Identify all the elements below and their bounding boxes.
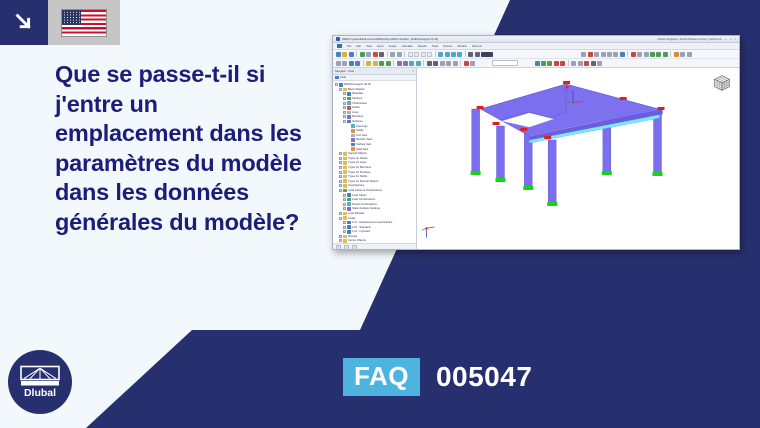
toolbar2-result-min[interactable] [560,61,565,66]
tree-node-label: Solid Sets [356,148,368,151]
faq-footer: FAQ 005047 [343,358,532,396]
tree-expand-icon[interactable]: + [339,175,342,178]
tree-node-label: Thicknesses [352,102,367,105]
toolbar-separator [670,51,671,57]
tree-node-icon [343,235,347,239]
tree-node-icon [351,147,355,151]
toolbar2-divide-icon[interactable] [386,61,391,66]
faq-chip: FAQ [343,358,420,396]
toolbar2-group-icon[interactable] [446,61,451,66]
toolbar2-result-max[interactable] [554,61,559,66]
tree-collapse-icon[interactable]: - [339,88,342,91]
toolbar-zoom-fit-icon[interactable] [451,52,456,57]
toolbar-osnap-icon[interactable] [421,52,426,57]
toolbar-load-icon[interactable] [620,52,625,57]
toolbar-save-icon[interactable] [349,52,354,57]
tree-node-icon [343,170,347,174]
tree-node-label: Types for Surfaces [348,171,370,174]
toolbar2-select-icon[interactable] [336,61,341,66]
toolbar-gap [495,52,537,57]
tree-node-icon [347,207,351,211]
rfem-application-window: RFEM 6 [www.dlubal.com/en/RFEM-FAQ-00504… [332,35,740,250]
tree-node-label: Nodes [352,106,360,109]
tree-node-icon [343,152,347,156]
close-button[interactable]: × [734,38,736,41]
tree-expand-icon[interactable]: + [343,221,346,224]
loadcase-select[interactable] [492,60,518,66]
toolbar-separator [363,60,364,66]
tree-expand-icon[interactable]: + [343,102,346,105]
toolbar2-lasso-icon[interactable] [342,61,347,66]
tree-expand-icon[interactable]: + [339,180,342,183]
navigator-title: Navigator - Data [335,70,354,73]
toolbar2-array-icon[interactable] [373,61,378,66]
tree-expand-icon[interactable]: + [339,212,342,215]
toolbar2-delete-icon[interactable] [464,61,469,66]
toolbar-wireframe-icon[interactable] [475,52,480,57]
tree-node-icon [347,115,351,119]
menu-item-view[interactable]: View [366,45,372,48]
toolbar-ortho-icon[interactable] [427,52,432,57]
tree-node-label: Types for Solids [348,175,367,178]
tree-node-icon [347,225,351,229]
tree-expand-icon[interactable]: + [343,226,346,229]
toolbar-separator [404,51,405,57]
menu-item-assign[interactable]: Assign [389,45,397,48]
tree-node-label: Loads [348,217,355,220]
toolbar-separator [423,60,424,66]
tree-node-label: Openings [356,125,368,128]
tree-node-icon [351,143,355,147]
workspace-row: Navigator - Data × Data -RFEM Designer 0… [333,68,739,250]
logo-brand-text: Dlubal [24,388,56,399]
toolbar-grid-icon[interactable] [408,52,413,57]
toolbar-help-icon[interactable] [687,52,692,57]
tree-leaf-icon [347,134,350,137]
toolbar-secondary [333,59,739,68]
toolbar-cut-icon[interactable] [373,52,378,57]
menu-item-calculate[interactable]: Calculate [402,45,413,48]
tree-leaf-icon [347,125,350,128]
tree-node-label: Surface Sets [356,143,371,146]
arrow-badge[interactable] [0,0,48,45]
tree-expand-icon[interactable]: + [343,207,346,210]
tree-node-icon [339,83,343,87]
toolbar-render-icon[interactable] [468,52,473,57]
tree-node-label: Special Objects [348,152,367,155]
tree-collapse-icon[interactable]: - [339,217,342,220]
tree-expand-icon[interactable]: + [343,115,346,118]
tree-node-label: Solids [356,129,363,132]
toolbar-print-icon[interactable] [360,52,365,57]
menubar: File Edit View Insert Assign Calculate R… [333,43,739,50]
toolbar-release-icon[interactable] [663,52,668,57]
toolbar2-section-icon[interactable] [403,61,408,66]
toolbar-snap-icon[interactable] [414,52,419,57]
tree-node-label: Types for Members [348,166,371,169]
tree-leaf-icon [347,129,350,132]
language-flag-badge[interactable] [48,0,120,45]
tree-node-label: LC3 - Imposed [352,230,370,233]
tree-collapse-icon[interactable]: - [335,83,338,86]
data-tab-icon [335,76,339,80]
tree-node-icon [351,134,355,138]
toolbar-separator [356,51,357,57]
tree-node-icon [347,230,351,234]
tree-expand-icon[interactable]: + [339,166,342,169]
toolbar-hinge-icon[interactable] [656,52,661,57]
menu-item-insert[interactable]: Insert [377,45,384,48]
tree-node-icon [343,179,347,183]
tree-node-label: LC2 - Standard [352,226,370,229]
tree-expand-icon[interactable]: + [339,171,342,174]
tree-expand-icon[interactable]: + [343,111,346,114]
toolbar-pan-icon[interactable] [457,52,462,57]
tree-node-label: Load Cases [352,194,366,197]
toolbar-copy-icon[interactable] [379,52,384,57]
navigator-close-icon[interactable]: × [412,70,414,73]
tree-node-icon [347,111,351,115]
toolbar2-print-icon[interactable] [578,61,583,66]
tree-expand-icon[interactable]: + [339,152,342,155]
toolbar-zoom-in-icon[interactable] [438,52,443,57]
toolbar2-rotate-icon[interactable] [355,61,360,66]
tree-node-label: Imperfections [348,184,364,187]
nav-settings-button[interactable] [352,245,357,250]
toolbar-new-icon[interactable] [336,52,341,57]
toolbar-settings-icon[interactable] [680,52,685,57]
tree-node-icon [343,157,347,161]
tree-expand-icon[interactable]: + [343,198,346,201]
tree-node-label: Lines [352,111,358,114]
tree-node-label: Materials [352,92,363,95]
tree-expand-icon[interactable]: + [339,184,342,187]
menu-item-results[interactable]: Results [418,45,427,48]
toolbar-member-icon[interactable] [601,52,606,57]
slide-canvas: Que se passe-t-il si j'entre un emplacem… [0,0,760,428]
toolbar-measure-icon[interactable] [581,52,586,57]
tree-node-icon [343,189,347,193]
toolbar2-layer-icon[interactable] [427,61,432,66]
dlubal-bridge-icon [20,365,60,387]
toolbar-support-icon[interactable] [650,52,655,57]
navigator-tree[interactable]: -RFEM Designer 06.rf6-Basic Objects+Mate… [333,81,416,243]
tree-node-label: Sections [352,97,362,100]
tree-node-label: Load Wizards [348,212,364,215]
tree-node-label: Surfaces [352,120,363,123]
toolbar-solid-icon[interactable] [613,52,618,57]
toolbar-scale-bar[interactable] [481,52,493,57]
maximize-button[interactable]: □ [730,38,732,41]
tree-node-icon [343,88,347,92]
toolbar2-mesh-icon[interactable] [416,61,421,66]
tree-node-icon [347,198,351,202]
toolbar-separator [460,60,461,66]
tree-node-icon [347,106,351,110]
tree-node-icon [351,138,355,142]
toolbar2-opts-icon[interactable] [597,61,602,66]
tree-collapse-icon[interactable]: - [339,189,342,192]
tree-node-icon [347,97,351,101]
nav-prev-button[interactable] [336,245,341,250]
tree-node-icon [347,193,351,197]
toolbar2-thickness-icon[interactable] [409,61,414,66]
toolbar2-visibility-icon[interactable] [433,61,438,66]
tree-expand-icon[interactable]: + [343,106,346,109]
toolbar2-result-solid[interactable] [547,61,552,66]
tree-collapse-icon[interactable]: - [343,120,346,123]
page-title: Que se passe-t-il si j'entre un emplacem… [55,60,305,237]
toolbar-separator [393,60,394,66]
toolbar2-lock-icon[interactable] [453,61,458,66]
tree-node-icon [351,124,355,128]
tree-node-label: Types for Lines [348,161,366,164]
tree-leaf-icon [347,143,350,146]
toolbar-separator [568,60,569,66]
tree-expand-icon[interactable]: + [343,97,346,100]
menu-item-window[interactable]: Window [457,45,467,48]
model-viewport[interactable] [417,68,739,250]
tree-node-icon [343,216,347,220]
dlubal-logo[interactable]: Dlubal [8,350,72,414]
tree-expand-icon[interactable]: + [343,230,346,233]
toolbar-preview-icon[interactable] [366,52,371,57]
toolbar2-extrude-icon[interactable] [379,61,384,66]
tree-expand-icon[interactable]: + [343,194,346,197]
toolbar-open-icon[interactable] [342,52,347,57]
toolbar2-info-icon[interactable] [470,61,475,66]
tree-node-label: Types for Nodes [348,157,368,160]
tree-expand-icon[interactable]: + [343,92,346,95]
toolbar-node-icon[interactable] [588,52,593,57]
toolbar-result-icon[interactable] [637,52,642,57]
toolbar2-filter-icon[interactable] [440,61,445,66]
toolbar-primary [333,50,739,59]
toolbar2-move-icon[interactable] [349,61,354,66]
toolbar2-table-icon[interactable] [591,61,596,66]
toolbar-deform-icon[interactable] [644,52,649,57]
tree-node-label: Member Sets [356,138,372,141]
structural-model-3d [417,68,739,250]
toolbar-separator [435,51,436,57]
minimize-button[interactable]: — [724,38,727,41]
navigator-tab-label: Data [341,76,346,79]
tree-node-icon [343,184,347,188]
tree-node-icon [347,101,351,105]
menu-item-addons[interactable]: Add-ons [472,45,482,48]
toolbar2-close-icon[interactable] [584,61,589,66]
menu-app-icon [337,44,342,48]
tree-node-label: RFEM Designer 06.rf6 [344,83,371,86]
window-title: RFEM 6 [www.dlubal.com/en/RFEM-FAQ-00504… [342,38,438,41]
toolbar-line-icon[interactable] [594,52,599,57]
window-company-label: Dlubal Navigation | Dlubal Software GmbH… [658,38,722,41]
toolbar-report-icon[interactable] [674,52,679,57]
toolbar2-result-surf[interactable] [541,61,546,66]
tree-node-label: Results [348,235,357,238]
arrow-down-right-icon [13,12,35,34]
tree-expand-icon[interactable]: + [343,203,346,206]
menu-item-edit[interactable]: Edit [356,45,361,48]
tree-node-label: Result Combinations [352,203,377,206]
toolbar2-mirror-icon[interactable] [366,61,371,66]
tree-node-label: Line Sets [356,134,367,137]
toolbar2-anim-icon[interactable] [571,61,576,66]
tree-expand-icon[interactable]: + [339,157,342,160]
toolbar2-result-bar[interactable] [535,61,540,66]
axis-triad-icon [421,223,437,239]
faq-number: 005047 [436,361,532,393]
tree-node-label: Basic Objects [348,88,364,91]
tree-node-icon [343,175,347,179]
toolbar-zoom-out-icon[interactable] [445,52,450,57]
app-icon [336,37,340,41]
toolbar-separator [387,51,388,57]
tree-node-label: LC1 - Displacement Load Surface [352,221,392,224]
menu-item-options[interactable]: Options [443,45,452,48]
toolbar-separator [627,51,628,57]
tree-node-label: Types for Special Objects [348,180,378,183]
menu-item-file[interactable]: File [347,45,351,48]
tree-node-icon [347,120,351,124]
navigator-footer [333,243,416,250]
toolbar-separator [465,51,466,57]
tree-node-icon [351,129,355,133]
tree-leaf-icon [347,138,350,141]
toolbar-gap [476,61,490,66]
navigator-header: Navigator - Data × [333,68,416,75]
tree-node-label: Load Combinations [352,198,375,201]
tree-node-icon [343,166,347,170]
tree-node-icon [343,212,347,216]
us-flag-icon [61,9,107,37]
window-titlebar: RFEM 6 [www.dlubal.com/en/RFEM-FAQ-00504… [333,36,739,43]
tree-expand-icon[interactable]: + [339,235,342,238]
tree-node-label: Load Cases & Combinations [348,189,382,192]
toolbar-gap [538,52,580,57]
toolbar-gap [519,61,533,66]
toolbar-surface-icon[interactable] [607,52,612,57]
tree-node-label: Static Analysis Settings [352,207,380,210]
tree-node-icon [347,202,351,206]
tree-expand-icon[interactable]: + [339,161,342,164]
tree-node-label: Members [352,115,363,118]
tree-node-icon [343,161,347,165]
view-cube-icon[interactable] [711,72,733,94]
toolbar-undo-icon[interactable] [390,52,395,57]
toolbar2-material-icon[interactable] [397,61,402,66]
tree-leaf-icon [347,148,350,151]
menu-item-tools[interactable]: Tools [432,45,438,48]
toolbar-calc-icon[interactable] [631,52,636,57]
nav-next-button[interactable] [344,245,349,250]
tree-node-icon [347,92,351,96]
tree-node-icon [347,221,351,225]
toolbar-redo-icon[interactable] [397,52,402,57]
navigator-panel: Navigator - Data × Data -RFEM Designer 0… [333,68,417,250]
